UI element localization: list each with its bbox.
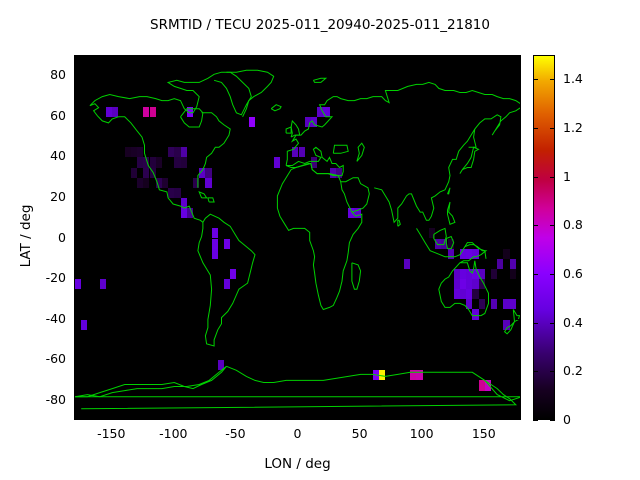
coastline-path [357,143,364,161]
coastline-path [475,107,520,135]
y-axis-tick-right [516,75,521,76]
y-axis-tick [74,116,79,117]
coastline-path [448,202,455,224]
x-axis-tick-top [298,55,299,60]
x-axis-tick-label: -100 [143,426,203,441]
y-axis-tick-label: 60 [26,108,66,123]
coastline-path [227,366,299,382]
y-axis-tick-label: -40 [26,311,66,326]
plot-area [74,55,521,420]
x-axis-tick [298,415,299,420]
coastline-path [505,310,520,334]
coastline-path [198,113,230,188]
colorbar-tick-label: 0 [563,412,613,427]
coastline-path [398,220,401,226]
colorbar-tick-label: 1.4 [563,71,613,86]
x-axis-tick [111,415,112,420]
x-axis-tick-top [360,55,361,60]
coastline-path [199,192,206,198]
x-axis-tick-label: -50 [205,426,265,441]
y-axis-tick-right [516,197,521,198]
colorbar-tick [550,79,555,80]
colorbar-tick-label: 0.4 [563,315,613,330]
coastline-path [75,372,520,400]
colorbar-tick [533,274,538,275]
y-axis-tick-label: -20 [26,270,66,285]
coastline-path [198,214,255,346]
coastline-path [277,164,361,310]
y-axis-tick-label: -80 [26,392,66,407]
y-axis-tick [74,238,79,239]
y-axis-tick-label: 20 [26,189,66,204]
colorbar-tick-label: 0.8 [563,217,613,232]
y-axis-tick-right [516,359,521,360]
colorbar-tick-label: 1 [563,169,613,184]
x-axis-tick [484,415,485,420]
coastline-path [90,104,203,223]
y-axis-tick-label: -60 [26,351,66,366]
y-axis-tick [74,319,79,320]
x-axis-tick [422,415,423,420]
colorbar-tick [533,420,538,421]
y-axis-tick [74,156,79,157]
colorbar-tick [533,177,538,178]
x-axis-tick-top [235,55,236,60]
y-axis-tick [74,278,79,279]
y-axis-tick-label: 0 [26,230,66,245]
coastline-path [374,129,476,222]
y-axis-tick-right [516,278,521,279]
colorbar-tick [550,371,555,372]
colorbar-tick [550,274,555,275]
y-axis-tick-label: 80 [26,67,66,82]
coastline-path [333,145,348,153]
colorbar-tick-label: 1.2 [563,120,613,135]
y-axis-tick-right [516,156,521,157]
x-axis-tick-label: 100 [392,426,452,441]
colorbar-tick [550,128,555,129]
colorbar-tick [550,323,555,324]
colorbar-tick [533,79,538,80]
coastline-path [181,109,203,127]
colorbar-tick [533,128,538,129]
x-axis-tick [173,415,174,420]
coastline-overlay [75,56,520,419]
x-axis-tick [235,415,236,420]
x-axis-tick-label: 150 [454,426,514,441]
x-axis-tick [360,415,361,420]
colorbar-tick [550,225,555,226]
coastline-path [90,72,251,115]
y-axis-tick [74,197,79,198]
coastline-path [313,78,325,82]
x-axis-tick-label: 50 [330,426,390,441]
colorbar-tick [550,177,555,178]
y-axis-tick [74,359,79,360]
x-axis-tick-top [422,55,423,60]
y-axis-tick-label: 40 [26,148,66,163]
colorbar [533,55,555,420]
colorbar-tick [550,420,555,421]
y-axis-tick-right [516,116,521,117]
colorbar-tick [533,371,538,372]
coastline-path [446,237,453,249]
y-axis-tick [74,400,79,401]
coastline-path [434,228,447,244]
colorbar-tick [533,323,538,324]
x-axis-tick-top [111,55,112,60]
coastline-path [286,127,291,133]
coastline-path [208,198,214,202]
y-axis-tick [74,75,79,76]
coastline-path [460,147,479,173]
coastline-path [417,228,489,315]
y-axis-tick-right [516,400,521,401]
plot-clip [75,56,520,419]
x-axis-tick-top [484,55,485,60]
coastline-path [75,366,227,396]
page-title: SRMTID / TECU 2025-011_20940-2025-011_21… [0,17,640,33]
y-axis-tick-right [516,319,521,320]
x-axis-tick-label: -150 [81,426,141,441]
colorbar-tick [533,225,538,226]
colorbar-tick-label: 0.2 [563,363,613,378]
coastline-path [448,188,451,194]
coastline-path [291,121,300,137]
coastline-path [271,105,281,111]
x-axis-label: LON / deg [0,456,595,472]
colorbar-tick-label: 0.6 [563,266,613,281]
x-axis-tick-label: 0 [268,426,328,441]
x-axis-tick-top [173,55,174,60]
y-axis-tick-right [516,238,521,239]
coastline-path [352,263,361,289]
plot-container: SRMTID / TECU 2025-011_20940-2025-011_21… [0,0,640,480]
